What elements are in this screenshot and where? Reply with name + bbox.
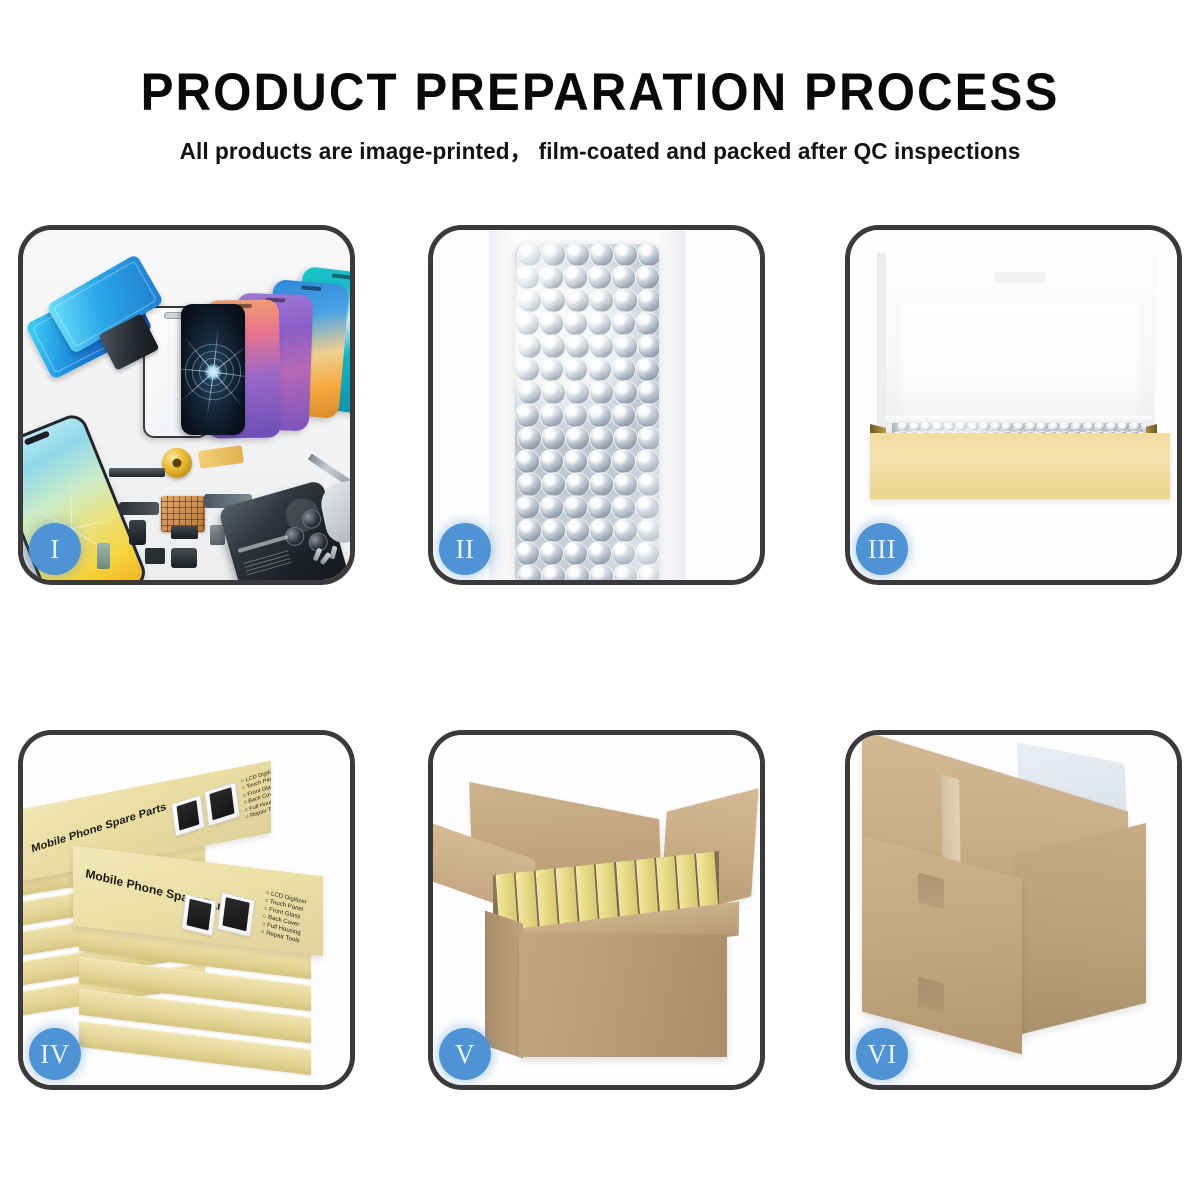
step-card-products-display[interactable]: 08 08 xyxy=(18,225,355,585)
box-screen-thumb xyxy=(204,782,240,827)
bubble-icon xyxy=(611,357,636,382)
bubble-icon xyxy=(563,357,588,382)
retail-box-feature-list-front: ○ LCD Digitizer○ Touch Panel○ Front Glas… xyxy=(260,889,307,946)
bubble-icon xyxy=(539,311,564,336)
loudspeaker-icon xyxy=(171,526,198,539)
carton-patch-icon xyxy=(918,873,944,910)
step-card-retail-box-stack[interactable]: Mobile Phone Spare Parts ○ LCD Digitizer… xyxy=(18,730,355,1090)
step-badge-2: II xyxy=(439,523,491,575)
bubble-icon xyxy=(587,311,612,336)
step-card-bubble-wrapping[interactable]: II xyxy=(428,225,765,585)
bubble-icon xyxy=(589,380,614,405)
bubble-icon xyxy=(635,541,659,566)
bubble-icon xyxy=(613,244,638,267)
bubble-icon xyxy=(587,265,612,290)
bubble-icon xyxy=(515,265,540,290)
bubble-icon xyxy=(637,472,659,497)
bubble-icon xyxy=(539,449,564,474)
bubble-icon xyxy=(541,334,566,359)
bubble-icon xyxy=(613,472,638,497)
process-step-grid: 08 08 xyxy=(0,0,1200,1200)
bubble-icon xyxy=(637,244,659,267)
step-card-sealed-carton[interactable]: VI xyxy=(845,730,1182,1090)
bubble-icon xyxy=(517,518,542,543)
bubble-icon xyxy=(563,311,588,336)
bubble-icon xyxy=(515,495,540,520)
bubble-icon xyxy=(637,334,659,359)
bubble-icon xyxy=(541,426,566,451)
bubble-icon xyxy=(635,265,659,290)
bubble-icon xyxy=(565,288,590,313)
step-badge-5-label: V xyxy=(455,1041,475,1068)
bubble-icon xyxy=(587,403,612,428)
bubble-icon xyxy=(589,334,614,359)
bubble-icon xyxy=(565,518,590,543)
cracked-screen-icon xyxy=(181,304,245,435)
box-screen-thumb xyxy=(171,795,205,837)
bubble-icon xyxy=(515,311,540,336)
bubble-icon xyxy=(517,564,542,580)
bubble-icon xyxy=(589,244,614,267)
step-badge-4: IV xyxy=(29,1028,81,1080)
bubble-icon xyxy=(613,288,638,313)
bubble-icon xyxy=(611,495,636,520)
bubble-icon xyxy=(587,357,612,382)
bubble-icon xyxy=(565,472,590,497)
bubble-icon xyxy=(611,449,636,474)
speaker-coil-icon xyxy=(162,448,192,478)
step-badge-2-label: II xyxy=(456,536,475,563)
bubble-icon xyxy=(541,518,566,543)
phone-parts-scene: 08 08 xyxy=(23,230,350,580)
bubble-icon xyxy=(613,380,638,405)
earpiece-bar-icon xyxy=(109,468,165,477)
box-screen-thumb xyxy=(217,892,255,937)
step-badge-1-label: I xyxy=(50,536,60,563)
bubble-icon xyxy=(635,495,659,520)
box-front-lip xyxy=(886,416,1152,423)
step-photo-bubble-wrapping xyxy=(433,230,760,580)
bubble-icon xyxy=(515,403,540,428)
step-badge-3: III xyxy=(856,523,908,575)
bubble-icon xyxy=(539,403,564,428)
step-badge-6: VI xyxy=(856,1028,908,1080)
bubble-icon xyxy=(637,564,659,580)
bubble-icon xyxy=(517,288,542,313)
bubble-icon xyxy=(637,288,659,313)
step-badge-3-label: III xyxy=(868,536,896,563)
bubble-icon xyxy=(613,518,638,543)
carton-patch-icon xyxy=(918,977,944,1014)
bubble-icon xyxy=(565,334,590,359)
bubble-icon xyxy=(611,265,636,290)
step-badge-4-label: IV xyxy=(40,1041,70,1068)
sim-tray-icon xyxy=(97,543,110,569)
bubble-icon xyxy=(587,449,612,474)
bubble-icon xyxy=(637,380,659,405)
step-photo-carton-loading xyxy=(433,735,760,1085)
bubble-icon xyxy=(563,449,588,474)
bubble-icon xyxy=(517,472,542,497)
bubble-icon xyxy=(587,495,612,520)
box-body-icon xyxy=(870,433,1170,499)
bubble-icon xyxy=(541,288,566,313)
bubble-icon xyxy=(517,334,542,359)
speaker-mesh-icon xyxy=(171,548,197,568)
bubble-icon xyxy=(565,244,590,267)
retail-box-title-back: Mobile Phone Spare Parts xyxy=(31,801,167,855)
bubble-icon xyxy=(539,541,564,566)
box-lid-inner-panel xyxy=(900,300,1140,418)
bubble-icon xyxy=(539,357,564,382)
bubble-icon xyxy=(635,311,659,336)
box-screen-thumb xyxy=(181,894,217,937)
step-photo-sealed-carton xyxy=(850,735,1177,1085)
bubble-icon xyxy=(613,334,638,359)
bubble-icon xyxy=(589,564,614,580)
bubble-icon xyxy=(541,472,566,497)
bubble-icon xyxy=(563,403,588,428)
bubble-icon xyxy=(517,380,542,405)
bubble-icon xyxy=(587,541,612,566)
step-photo-retail-box-stack: Mobile Phone Spare Parts ○ LCD Digitizer… xyxy=(23,735,350,1085)
bubble-icon xyxy=(611,541,636,566)
bubble-icon xyxy=(515,541,540,566)
bubble-icon xyxy=(635,449,659,474)
bubble-icon xyxy=(637,518,659,543)
bubble-icon xyxy=(541,244,566,267)
bubble-icon xyxy=(613,564,638,580)
bubble-icon xyxy=(589,518,614,543)
camera-module-icon xyxy=(129,520,146,545)
bubble-icon xyxy=(517,426,542,451)
bubble-wrap-grid-icon xyxy=(515,244,659,580)
bubble-icon xyxy=(517,244,542,267)
bubble-icon xyxy=(611,311,636,336)
bubble-icon xyxy=(565,426,590,451)
bubble-icon xyxy=(565,564,590,580)
step-badge-5: V xyxy=(439,1028,491,1080)
bubble-icon xyxy=(635,357,659,382)
bubble-icon xyxy=(589,288,614,313)
retail-box-feature-list-back: ○ LCD Digitizer○ Touch Panel○ Front Glas… xyxy=(240,767,271,822)
flex-cable-gold-icon xyxy=(198,445,244,469)
button-bracket-icon xyxy=(145,548,165,564)
bubble-icon xyxy=(539,495,564,520)
step-photo-inner-box-packing xyxy=(850,230,1177,580)
bubble-icon xyxy=(563,541,588,566)
bubble-icon xyxy=(515,449,540,474)
step-card-inner-box-packing[interactable]: III xyxy=(845,225,1182,585)
carton-side-face-icon xyxy=(485,910,523,1058)
carton-front-face-icon xyxy=(519,935,727,1057)
flex-cable-dark-icon xyxy=(119,502,159,515)
bubble-icon xyxy=(539,265,564,290)
step-badge-6-label: VI xyxy=(867,1041,897,1068)
step-card-carton-loading[interactable]: V xyxy=(428,730,765,1090)
bubble-icon xyxy=(637,426,659,451)
bubble-icon xyxy=(541,564,566,580)
bubble-icon xyxy=(563,265,588,290)
bubble-icon xyxy=(611,403,636,428)
bubble-icon xyxy=(565,380,590,405)
bubble-icon xyxy=(589,472,614,497)
bubble-icon xyxy=(541,380,566,405)
bubble-icon xyxy=(635,403,659,428)
bubble-icon xyxy=(515,357,540,382)
box-lid-tab-icon xyxy=(994,272,1046,283)
bubble-icon xyxy=(563,495,588,520)
step-badge-1: I xyxy=(29,523,81,575)
sealed-carton-side-face-icon xyxy=(1018,823,1146,1035)
bubble-icon xyxy=(613,426,638,451)
step-photo-products-display: 08 08 xyxy=(23,230,350,580)
bubble-icon xyxy=(589,426,614,451)
